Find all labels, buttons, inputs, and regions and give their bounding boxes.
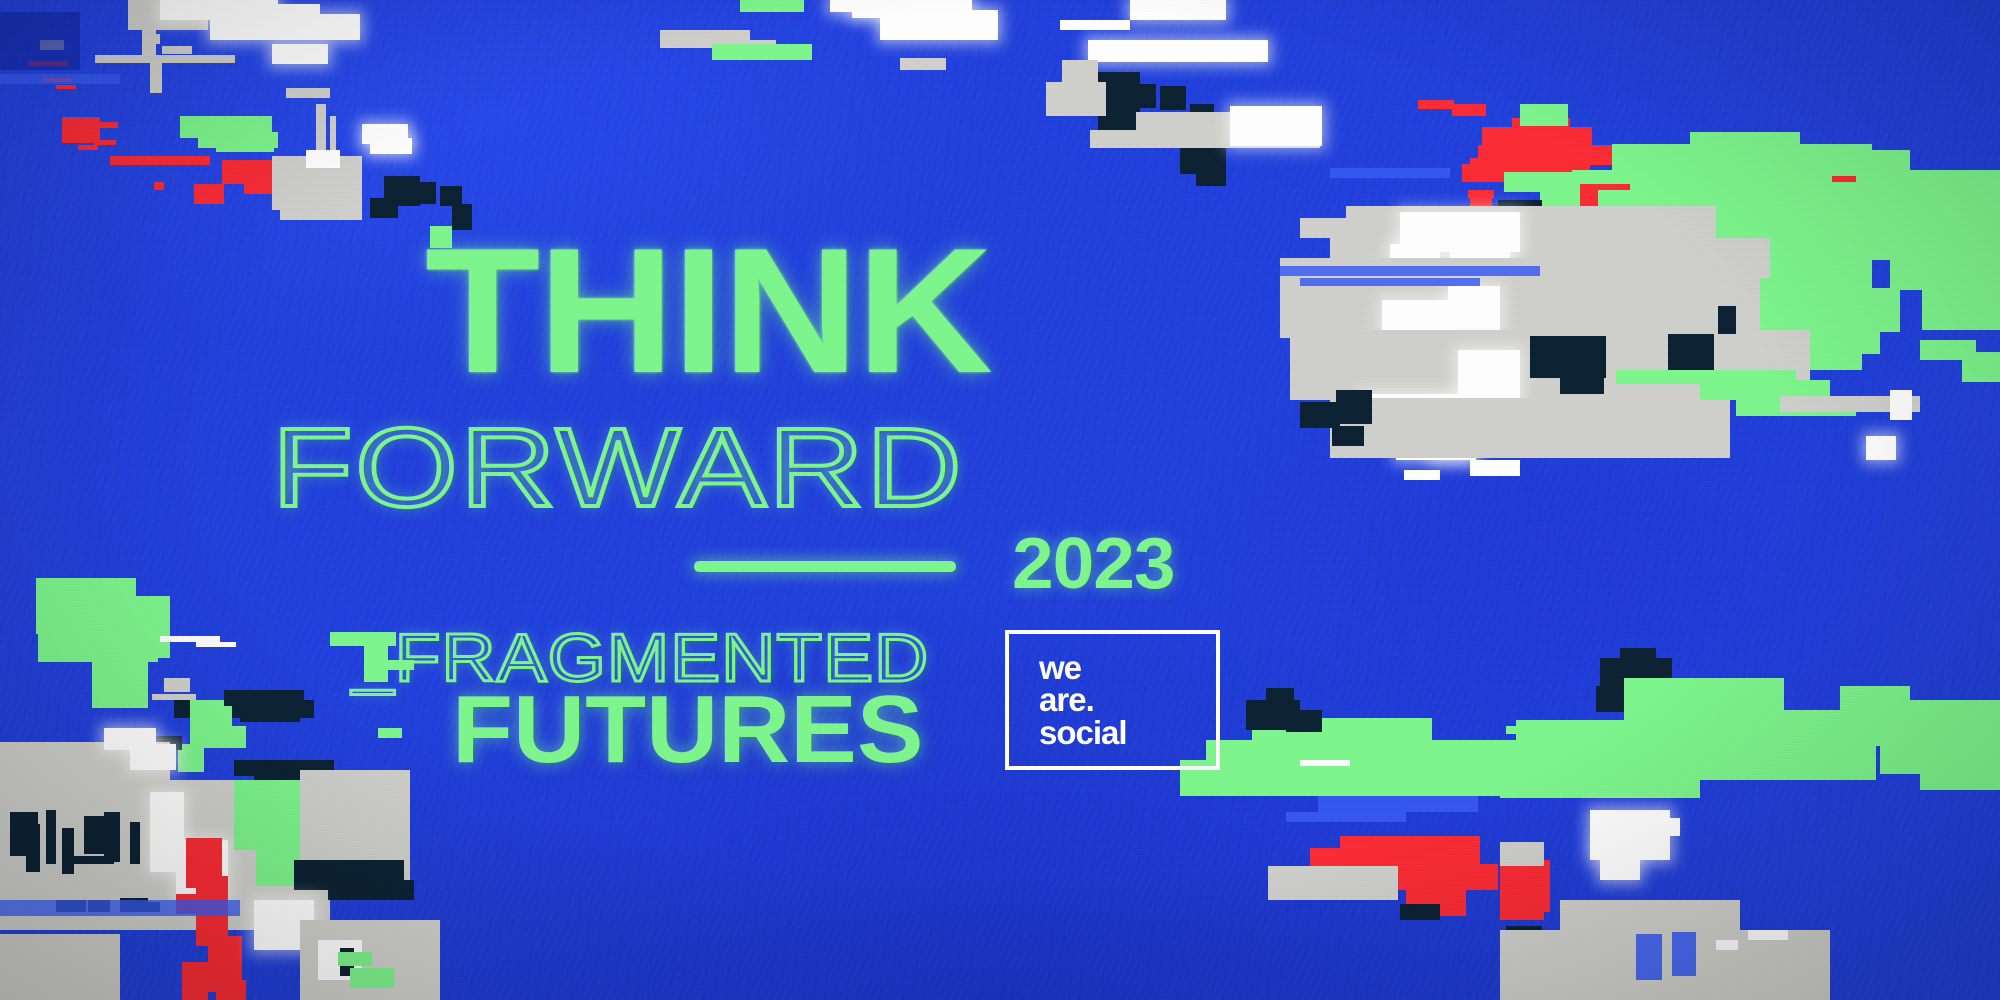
- poster-canvas: THINK FORWARD 2023 _FRAGMENTED FUTURES w…: [0, 0, 2000, 1000]
- film-grain-overlay: [0, 0, 2000, 1000]
